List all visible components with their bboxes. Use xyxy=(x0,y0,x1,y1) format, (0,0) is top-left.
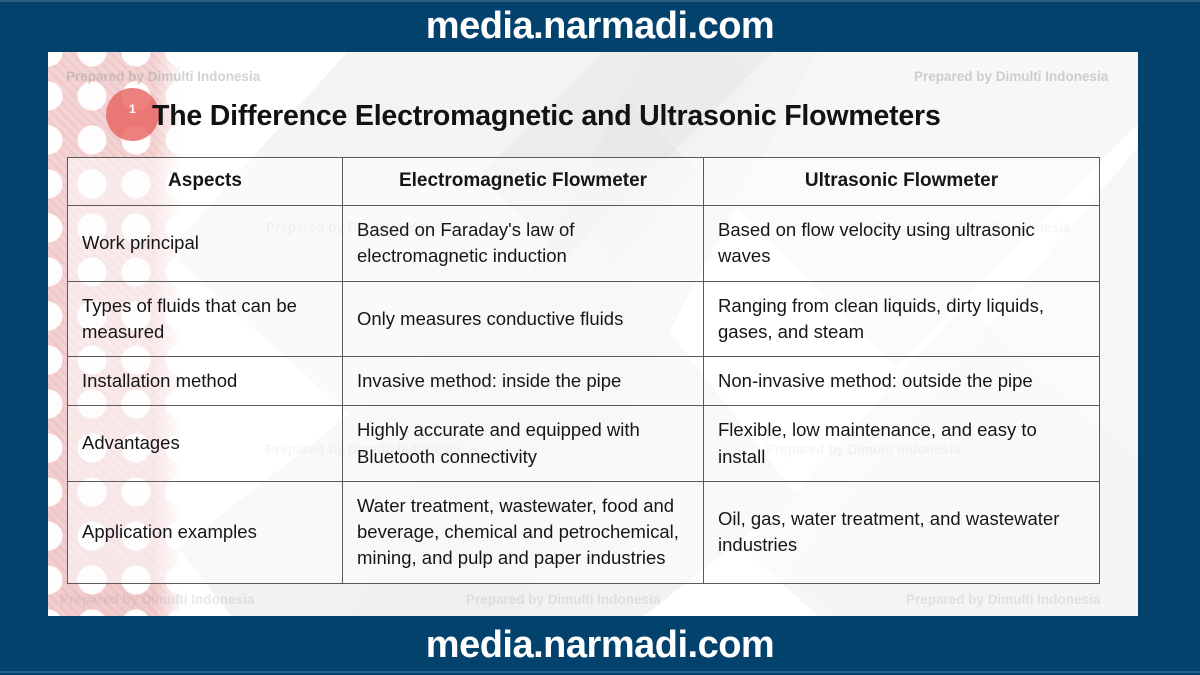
watermark: Prepared by Dimulti Indonesia xyxy=(906,592,1100,607)
column-header-aspects: Aspects xyxy=(68,158,343,206)
table-row: Installation methodInvasive method: insi… xyxy=(68,357,1100,406)
comparison-table: Aspects Electromagnetic Flowmeter Ultras… xyxy=(67,157,1100,584)
top-hairline xyxy=(0,0,1200,2)
slide-number-text: 1 xyxy=(129,102,136,116)
cell-aspect: Installation method xyxy=(68,357,343,406)
slide-heading: 1 The Difference Electromagnetic and Ult… xyxy=(48,90,1138,142)
table-header-row: Aspects Electromagnetic Flowmeter Ultras… xyxy=(68,158,1100,206)
page-title: The Difference Electromagnetic and Ultra… xyxy=(152,90,941,142)
watermark: Prepared by Dimulti Indonesia xyxy=(914,69,1108,84)
bottom-brand-bar: media.narmadi.com xyxy=(0,616,1200,675)
cell-electromagnetic: Water treatment, wastewater, food and be… xyxy=(343,481,704,583)
column-header-ultrasonic: Ultrasonic Flowmeter xyxy=(704,158,1100,206)
cell-ultrasonic: Non-invasive method: outside the pipe xyxy=(704,357,1100,406)
cell-ultrasonic: Oil, gas, water treatment, and wastewate… xyxy=(704,481,1100,583)
cell-aspect: Types of fluids that can be measured xyxy=(68,281,343,357)
cell-aspect: Application examples xyxy=(68,481,343,583)
cell-aspect: Work principal xyxy=(68,206,343,282)
table-row: Types of fluids that can be measuredOnly… xyxy=(68,281,1100,357)
watermark: Prepared by Dimulti Indonesia xyxy=(466,592,660,607)
table-row: Work principalBased on Faraday's law of … xyxy=(68,206,1100,282)
cell-ultrasonic: Based on flow velocity using ultrasonic … xyxy=(704,206,1100,282)
table-body: Work principalBased on Faraday's law of … xyxy=(68,206,1100,584)
top-brand-text: media.narmadi.com xyxy=(426,5,774,48)
bottom-hairline xyxy=(0,671,1200,673)
top-brand-bar: media.narmadi.com xyxy=(0,0,1200,52)
column-header-electromagnetic: Electromagnetic Flowmeter xyxy=(343,158,704,206)
slide-canvas: Prepared by Dimulti IndonesiaPrepared by… xyxy=(48,52,1138,616)
cell-aspect: Advantages xyxy=(68,406,343,482)
table-row: Application examplesWater treatment, was… xyxy=(68,481,1100,583)
cell-electromagnetic: Based on Faraday's law of electromagneti… xyxy=(343,206,704,282)
cell-electromagnetic: Highly accurate and equipped with Blueto… xyxy=(343,406,704,482)
cell-ultrasonic: Flexible, low maintenance, and easy to i… xyxy=(704,406,1100,482)
bottom-brand-text: media.narmadi.com xyxy=(426,624,774,667)
table-row: AdvantagesHighly accurate and equipped w… xyxy=(68,406,1100,482)
cell-ultrasonic: Ranging from clean liquids, dirty liquid… xyxy=(704,281,1100,357)
cell-electromagnetic: Invasive method: inside the pipe xyxy=(343,357,704,406)
cell-electromagnetic: Only measures conductive fluids xyxy=(343,281,704,357)
